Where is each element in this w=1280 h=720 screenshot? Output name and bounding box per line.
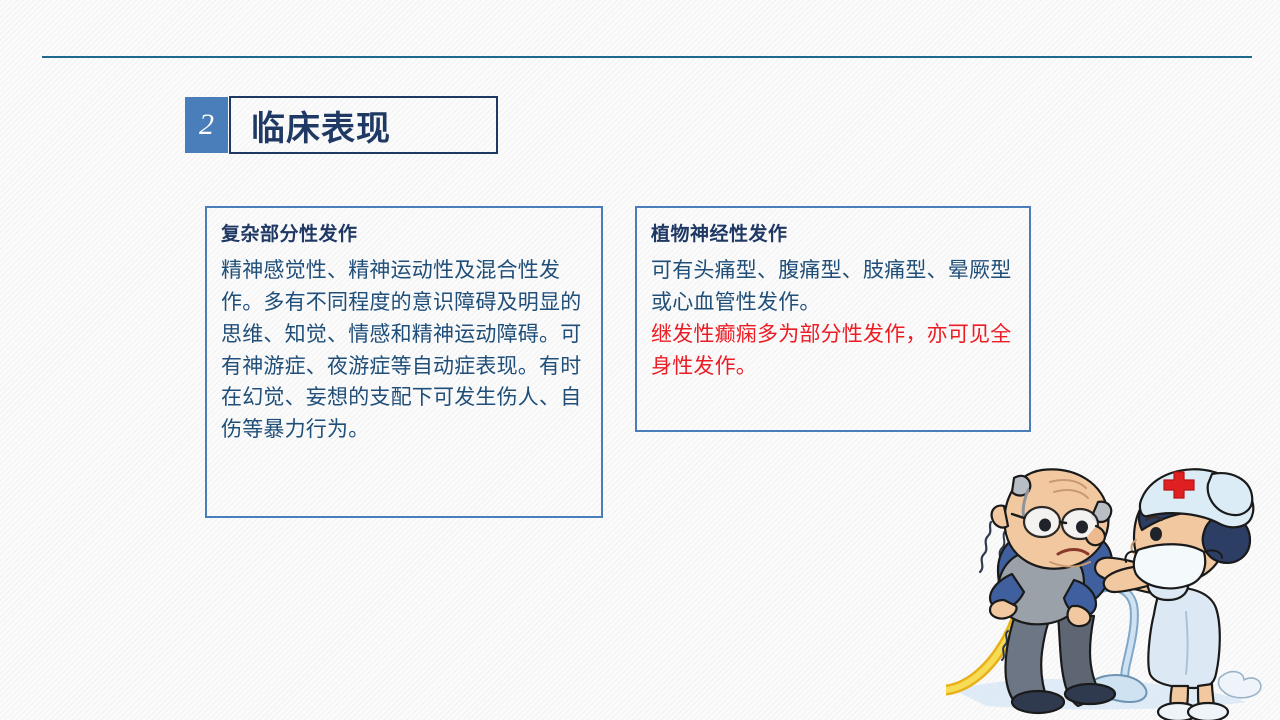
content-box-autonomic-seizure: 植物神经性发作 可有头痛型、腹痛型、肢痛型、晕厥型或心血管性发作。 继发性癫痫多…: [635, 206, 1031, 432]
page-title: 临床表现: [251, 101, 391, 150]
content-box-heading: 植物神经性发作: [651, 224, 1015, 247]
section-number-label: 2: [199, 110, 214, 140]
section-title-box: 临床表现: [229, 96, 498, 154]
content-box-paragraph-highlighted: 继发性癫痫多为部分性发作，亦可见全身性发作。: [651, 319, 1015, 383]
header-divider-rule: [42, 56, 1252, 58]
content-box-paragraph: 精神感觉性、精神运动性及混合性发作。多有不同程度的意识障碍及明显的思维、知觉、情…: [221, 255, 587, 446]
content-box-complex-partial-seizure: 复杂部分性发作 精神感觉性、精神运动性及混合性发作。多有不同程度的意识障碍及明显…: [205, 206, 603, 518]
slide-canvas: 2 临床表现 复杂部分性发作 精神感觉性、精神运动性及混合性发作。多有不同程度的…: [0, 0, 1280, 720]
content-box-heading: 复杂部分性发作: [221, 224, 587, 247]
nurse-assisting-elderly-man-illustration: [946, 462, 1280, 720]
section-number-badge: 2: [185, 97, 228, 153]
content-box-paragraph: 可有头痛型、腹痛型、肢痛型、晕厥型或心血管性发作。: [651, 255, 1015, 319]
